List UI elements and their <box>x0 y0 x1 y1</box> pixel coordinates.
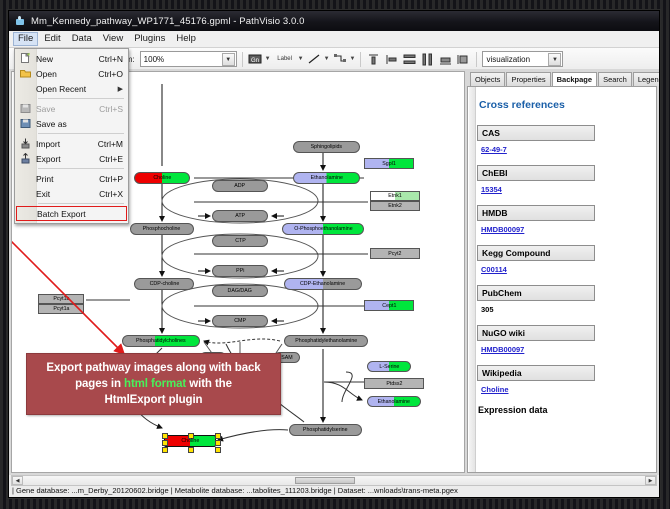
align-top-tool-icon[interactable] <box>366 52 381 67</box>
callout-line-3: HtmlExport plugin <box>99 392 209 408</box>
side-panel-tabs[interactable]: Objects Properties Backpage Search Legen… <box>467 71 657 86</box>
menu-item-new[interactable]: NewCtrl+N <box>15 51 128 66</box>
menu-item-no-icon <box>15 81 36 96</box>
align-left-tool-icon[interactable] <box>384 52 399 67</box>
pathvisio-window: Mm_Kennedy_pathway_WP1771_45176.gpml - P… <box>8 10 660 498</box>
node-label: Pcyt1a <box>53 306 69 312</box>
metabolite-node[interactable]: DAG/DAG <box>212 285 268 297</box>
menu-item-label: Import <box>36 139 98 149</box>
svg-text:Gn: Gn <box>251 58 259 64</box>
xref-link[interactable]: 62-49-7 <box>481 145 507 154</box>
scroll-left-arrow-icon[interactable]: ◀ <box>12 476 23 485</box>
gene-product-node[interactable]: Ptdss2 <box>364 378 424 389</box>
metabolite-node[interactable]: Ethanolamine <box>367 396 421 407</box>
tab-properties[interactable]: Properties <box>506 72 550 86</box>
xref-link[interactable]: HMDB00097 <box>481 345 524 354</box>
zoom-combo[interactable]: 100% ▼ <box>140 51 237 67</box>
menu-item-label: Exit <box>36 189 99 199</box>
gene-product-tool-icon[interactable]: Gn <box>248 52 263 67</box>
callout-line-2b: with the <box>186 378 232 390</box>
menu-item-save: SaveCtrl+S <box>15 101 128 116</box>
node-label: O-Phosphoethanolamine <box>294 226 352 232</box>
menu-separator <box>38 98 124 99</box>
side-panel: Objects Properties Backpage Search Legen… <box>467 71 657 473</box>
node-label: Phosphatidylserine <box>303 427 348 433</box>
gene-product-node[interactable]: Pcyt2 <box>370 248 420 259</box>
menu-item-shortcut: Ctrl+X <box>99 189 128 199</box>
selection-handle[interactable] <box>215 447 221 453</box>
chevron-down-icon[interactable]: ▼ <box>548 53 561 66</box>
menu-item-no-icon <box>15 186 36 201</box>
xref-value[interactable]: HMDB00097 <box>481 225 649 234</box>
menu-item-no-icon <box>16 206 37 221</box>
scroll-right-arrow-icon[interactable]: ▶ <box>645 476 656 485</box>
tab-backpage[interactable]: Backpage <box>552 72 597 87</box>
save-as-icon <box>15 116 36 131</box>
status-text: | Gene database: ...m_Derby_20120602.bri… <box>12 485 656 496</box>
chevron-down-icon[interactable]: ▼ <box>265 56 271 62</box>
metabolite-node[interactable]: O-Phosphoethanolamine <box>282 223 364 235</box>
menu-data[interactable]: Data <box>67 32 97 46</box>
pathvisio-app-icon <box>15 16 26 27</box>
xref-source-header: PubChem <box>477 285 595 301</box>
node-label: Etnk2 <box>388 203 402 209</box>
metabolite-node[interactable]: Phosphocholine <box>130 223 194 235</box>
menu-separator <box>38 168 124 169</box>
menu-plugins[interactable]: Plugins <box>129 32 170 46</box>
gene-product-node[interactable]: Cept1 <box>364 300 414 311</box>
toolbar-divider <box>476 52 477 67</box>
expression-data-heading: Expression data <box>478 405 649 415</box>
menu-item-open[interactable]: OpenCtrl+O <box>15 66 128 81</box>
menu-item-no-icon <box>15 171 36 186</box>
toolbar-divider <box>360 52 361 67</box>
metabolite-node[interactable]: ADP <box>212 180 268 192</box>
xref-value[interactable]: 15354 <box>481 185 649 194</box>
visualization-combo[interactable]: visualization ▼ <box>482 51 563 67</box>
menu-item-import[interactable]: ImportCtrl+M <box>15 136 128 151</box>
callout-line-2: pages in html format with the <box>69 376 238 392</box>
node-label: ADP <box>235 183 246 189</box>
menu-help[interactable]: Help <box>171 32 201 46</box>
node-label: CMP <box>234 318 246 324</box>
menu-item-exit[interactable]: ExitCtrl+X <box>15 186 128 201</box>
metabolite-node[interactable]: Choline <box>164 435 216 447</box>
cross-references-title: Cross references <box>479 99 649 111</box>
xref-source-header: Kegg Compound <box>477 245 595 261</box>
submenu-arrow-icon: ▶ <box>118 85 128 93</box>
selection-handle[interactable] <box>215 440 221 446</box>
backpage-content[interactable]: Cross references CAS62-49-7ChEBI15354HMD… <box>467 86 657 473</box>
node-label: L-Serine <box>379 364 399 370</box>
metabolite-node[interactable]: ATP <box>212 210 268 222</box>
menu-item-label: Batch Export <box>37 209 122 219</box>
xref-value: 305 <box>481 305 649 314</box>
backpage-scrollbar[interactable] <box>469 87 476 472</box>
metabolite-node[interactable]: Sphingolipids <box>293 141 360 153</box>
menu-item-shortcut: Ctrl+N <box>99 54 128 64</box>
open-folder-icon <box>15 66 36 81</box>
selection-handle[interactable] <box>162 447 168 453</box>
menu-item-label: Open <box>36 69 98 79</box>
xref-source-header: NuGO wiki <box>477 325 595 341</box>
label-tool-icon[interactable]: Label <box>274 52 296 67</box>
title-bar: Mm_Kennedy_pathway_WP1771_45176.gpml - P… <box>9 11 659 31</box>
menu-edit[interactable]: Edit <box>39 32 65 46</box>
chevron-down-icon[interactable]: ▼ <box>350 56 356 62</box>
xref-source-header: ChEBI <box>477 165 595 181</box>
tab-legend[interactable]: Legend <box>633 72 660 86</box>
xref-value[interactable]: HMDB00097 <box>481 345 649 354</box>
line-tool-icon[interactable] <box>307 52 322 67</box>
menu-separator <box>38 203 124 204</box>
distribute-horizontal-tool-icon[interactable] <box>420 52 435 67</box>
xref-value[interactable]: 62-49-7 <box>481 145 649 154</box>
node-label: Ethanolamine <box>378 399 410 405</box>
chevron-down-icon[interactable]: ▼ <box>324 56 330 62</box>
node-label: Ptdss2 <box>386 381 402 387</box>
xref-value[interactable]: Choline <box>481 385 649 394</box>
callout-line-1: Export pathway images along with back <box>40 360 266 376</box>
menu-item-label: Open Recent <box>36 84 118 94</box>
node-label: ATP <box>235 213 245 219</box>
selection-handle[interactable] <box>215 433 221 439</box>
metabolite-node[interactable]: L-Serine <box>367 361 411 372</box>
metabolite-node[interactable]: PPi <box>212 265 268 277</box>
menu-item-save-as[interactable]: Save as <box>15 116 128 131</box>
xref-source-header: CAS <box>477 125 595 141</box>
node-label: Cept1 <box>382 303 396 309</box>
connector-tool-icon[interactable] <box>333 52 348 67</box>
xref-value[interactable]: C00114 <box>481 265 649 274</box>
menu-item-shortcut: Ctrl+E <box>99 154 128 164</box>
tab-objects[interactable]: Objects <box>470 72 505 86</box>
callout-line-2a: pages in <box>75 378 124 390</box>
import-icon <box>15 136 36 151</box>
gene-product-node[interactable]: Pcyt1b <box>38 294 84 304</box>
export-icon <box>15 151 36 166</box>
status-bar: ◀ ▶ | Gene database: ...m_Derby_20120602… <box>9 475 659 497</box>
node-label: SAM <box>281 355 292 361</box>
menu-item-shortcut: Ctrl+P <box>99 174 128 184</box>
node-label: Pcyt2 <box>388 251 401 257</box>
metabolite-node[interactable]: Choline <box>134 172 190 184</box>
node-label: Ethanolamine <box>310 175 342 181</box>
node-label: Pcyt1b <box>53 296 69 302</box>
metabolite-node[interactable]: CDP-Ethanolamine <box>284 278 362 290</box>
menu-item-export[interactable]: ExportCtrl+E <box>15 151 128 166</box>
node-label: Choline <box>181 438 199 444</box>
stack-center-tool-icon[interactable] <box>438 52 453 67</box>
menu-bar[interactable]: File Edit Data View Plugins Help <box>9 31 659 48</box>
xref-link[interactable]: 15354 <box>481 185 502 194</box>
callout-highlight: html format <box>124 378 186 390</box>
annotation-callout: Export pathway images along with back pa… <box>26 353 281 415</box>
menu-item-label: Export <box>36 154 99 164</box>
gene-product-node[interactable]: Etnk2 <box>370 201 420 211</box>
menu-item-print[interactable]: PrintCtrl+P <box>15 171 128 186</box>
menu-item-label: Print <box>36 174 99 184</box>
node-label: CDP-Ethanolamine <box>300 281 345 287</box>
node-label: Choline <box>153 175 171 181</box>
node-label: Etnk1 <box>388 193 402 199</box>
menu-item-shortcut: Ctrl+S <box>99 104 128 114</box>
node-label: Phosphocholine <box>143 226 181 232</box>
scrollbar-thumb[interactable] <box>295 477 355 484</box>
metabolite-node[interactable]: Phosphatidylethanolamine <box>284 335 368 347</box>
toolbar-divider <box>242 52 243 67</box>
xref-source-header: HMDB <box>477 205 595 221</box>
node-label: Phosphatidylcholines <box>136 338 186 344</box>
distribute-vertical-tool-icon[interactable] <box>402 52 417 67</box>
xref-link[interactable]: C00114 <box>481 265 507 274</box>
selection-handle[interactable] <box>188 447 194 453</box>
tab-search[interactable]: Search <box>598 72 632 86</box>
chevron-down-icon[interactable]: ▼ <box>298 56 304 62</box>
node-label: PPi <box>236 268 244 274</box>
common-width-tool-icon[interactable] <box>456 52 471 67</box>
chevron-down-icon[interactable]: ▼ <box>222 53 235 66</box>
metabolite-node[interactable]: CDP-choline <box>134 278 194 290</box>
menu-item-label: Save <box>36 104 99 114</box>
cross-reference-list: CAS62-49-7ChEBI15354HMDBHMDB00097Kegg Co… <box>477 125 649 394</box>
node-label: CDP-choline <box>149 281 179 287</box>
menu-item-open-recent[interactable]: Open Recent▶ <box>15 81 128 96</box>
zoom-value: 100% <box>144 55 164 64</box>
node-label: DAG/DAG <box>228 288 252 294</box>
metabolite-node[interactable]: CTP <box>212 235 268 247</box>
menu-item-shortcut: Ctrl+M <box>98 139 128 149</box>
node-label: Phosphatidylethanolamine <box>295 338 357 344</box>
menu-item-label: New <box>36 54 99 64</box>
xref-link[interactable]: Choline <box>481 385 509 394</box>
node-label: Sphingolipids <box>311 144 342 150</box>
xref-source-header: Wikipedia <box>477 365 595 381</box>
menu-separator <box>38 133 124 134</box>
gene-product-node[interactable]: Etnk1 <box>370 191 420 201</box>
menu-item-label: Save as <box>36 119 123 129</box>
selection-handle[interactable] <box>162 433 168 439</box>
file-menu-popup[interactable]: NewCtrl+NOpenCtrl+OOpen Recent▶SaveCtrl+… <box>14 48 129 224</box>
menu-view[interactable]: View <box>98 32 128 46</box>
label-tool-text: Label <box>277 56 292 62</box>
selection-handle[interactable] <box>162 440 168 446</box>
metabolite-node[interactable]: Phosphatidylcholines <box>122 335 200 347</box>
gene-product-node[interactable]: Sgpl1 <box>364 158 414 169</box>
node-label: Sgpl1 <box>382 161 396 167</box>
gene-product-node[interactable]: Pcyt1a <box>38 304 84 314</box>
metabolite-node[interactable]: CMP <box>212 315 268 327</box>
menu-item-batch-export[interactable]: Batch Export <box>16 206 127 221</box>
save-disk-icon <box>15 101 36 116</box>
node-label: CTP <box>235 238 246 244</box>
menu-file[interactable]: File <box>13 32 38 46</box>
metabolite-node[interactable]: Phosphatidylserine <box>289 424 362 436</box>
visualization-value: visualization <box>486 55 530 64</box>
window-title: Mm_Kennedy_pathway_WP1771_45176.gpml - P… <box>31 16 305 27</box>
xref-link[interactable]: HMDB00097 <box>481 225 524 234</box>
new-document-icon <box>15 51 36 66</box>
menu-item-shortcut: Ctrl+O <box>98 69 128 79</box>
metabolite-node[interactable]: Ethanolamine <box>293 172 360 184</box>
